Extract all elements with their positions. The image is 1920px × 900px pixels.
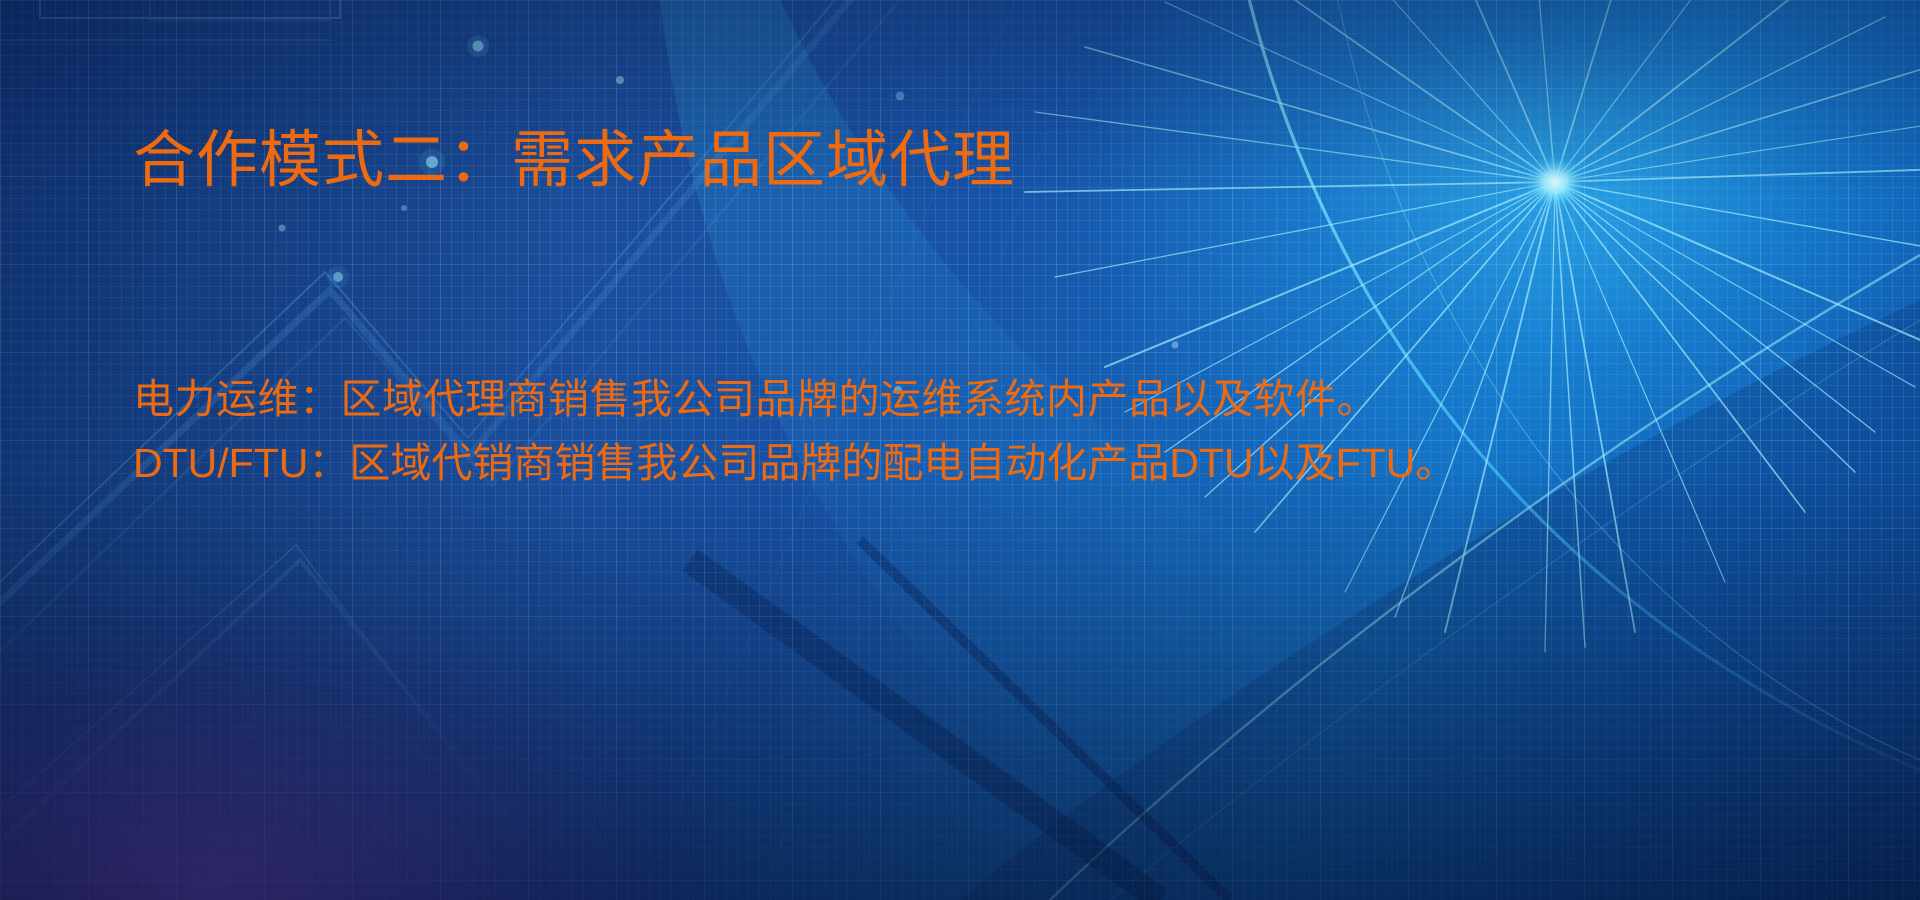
body-line-dtu-ftu: DTU/FTU：区域代销商销售我公司品牌的配电自动化产品DTU以及FTU。 [133,431,1833,495]
body-text-block: 电力运维：区域代理商销售我公司品牌的运维系统内产品以及软件。 DTU/FTU：区… [133,367,1833,495]
glow-dots [279,35,1179,394]
slide-canvas: 合作模式二：需求产品区域代理 电力运维：区域代理商销售我公司品牌的运维系统内产品… [0,0,1920,900]
starburst-core [1521,152,1589,212]
page-title: 合作模式二：需求产品区域代理 [133,126,1015,195]
body-line-power-ops: 电力运维：区域代理商销售我公司品牌的运维系统内产品以及软件。 [133,367,1833,431]
